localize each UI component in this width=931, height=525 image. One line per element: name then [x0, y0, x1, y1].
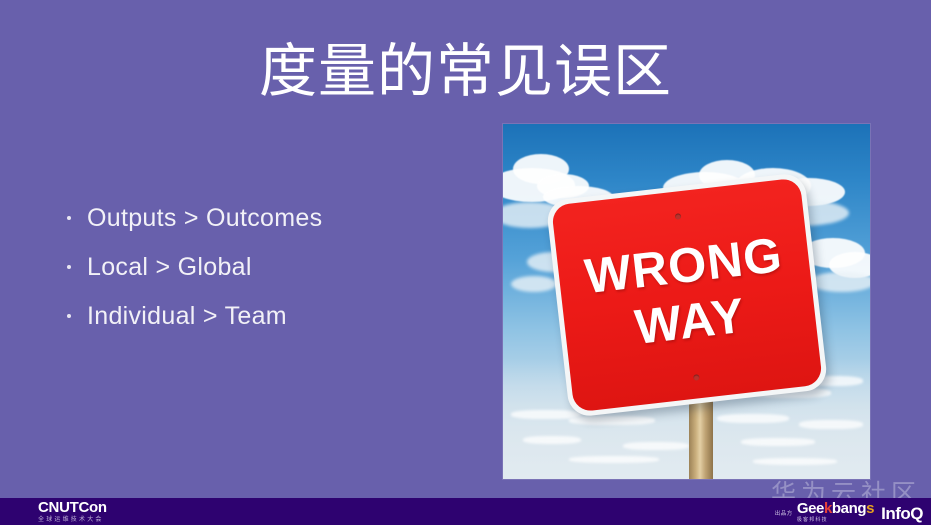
- footer-bar: CNUTCon 全球运维技术大会 出品方 Geekbangs 极客邦科技 Inf…: [0, 498, 931, 525]
- list-item-label: Individual > Team: [87, 301, 287, 331]
- dot-bullet-icon: [60, 265, 78, 269]
- cnutcon-logo: CNUTCon 全球运维技术大会: [38, 500, 107, 524]
- sign-white-border: WRONG WAY: [545, 172, 828, 418]
- sign-red-face: WRONG WAY: [551, 178, 823, 413]
- list-item: Individual > Team: [60, 292, 480, 340]
- list-item: Outputs > Outcomes: [60, 194, 480, 242]
- presentation-slide: 度量的常见误区 Outputs > Outcomes Local > Globa…: [0, 0, 931, 525]
- sign-text: WRONG WAY: [556, 225, 817, 365]
- sponsor-prefix-label: 出品方: [775, 510, 793, 519]
- sponsor-logos: 出品方 Geekbangs 极客邦科技 InfoQ: [775, 501, 923, 524]
- dot-bullet-icon: [60, 314, 78, 318]
- geekbang-name-part-s: s: [866, 500, 874, 517]
- cnutcon-logo-subtitle: 全球运维技术大会: [38, 516, 107, 524]
- geekbang-logo-name: Geekbangs: [797, 501, 874, 517]
- list-item-label: Local > Global: [87, 252, 252, 282]
- sign-bolt-icon: [693, 374, 700, 381]
- list-item: Local > Global: [60, 243, 480, 291]
- sign-bolt-icon: [675, 213, 682, 220]
- geekbang-name-part-k: k: [824, 500, 832, 517]
- infoq-logo: InfoQ: [881, 505, 923, 523]
- road-sign-board: WRONG WAY: [545, 172, 828, 418]
- geekbang-logo: Geekbangs 极客邦科技: [797, 501, 874, 524]
- geekbang-name-part-2: bang: [832, 500, 866, 517]
- list-item-label: Outputs > Outcomes: [87, 203, 322, 233]
- geekbang-name-part-1: Gee: [797, 500, 824, 517]
- cnutcon-logo-name: CNUTCon: [38, 500, 107, 516]
- dot-bullet-icon: [60, 216, 78, 220]
- wrong-way-road-sign-photo: WRONG WAY: [503, 124, 870, 479]
- page-title: 度量的常见误区: [0, 38, 931, 104]
- geekbang-logo-subtitle: 极客邦科技: [797, 517, 874, 524]
- bullet-list: Outputs > Outcomes Local > Global Indivi…: [60, 194, 480, 341]
